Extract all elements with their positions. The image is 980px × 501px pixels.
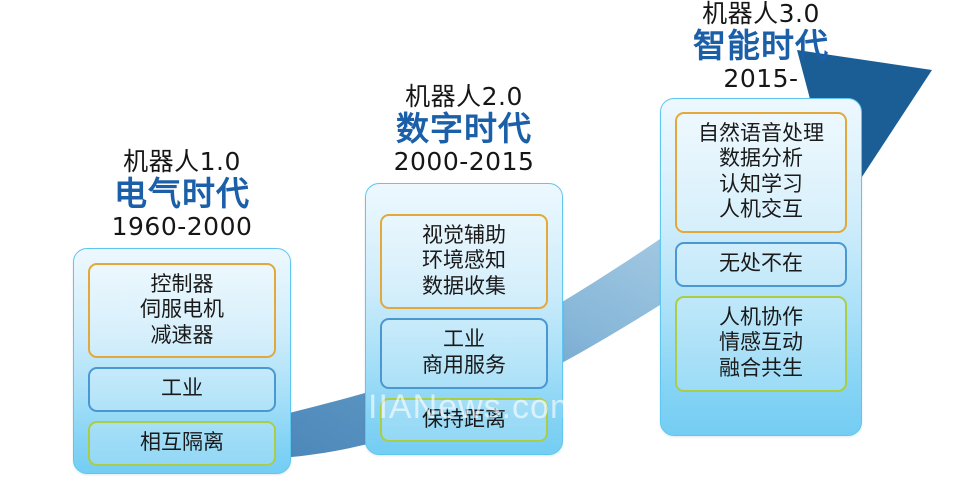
era-2-name: 机器人2.0 [365, 83, 563, 110]
era-3-panel: 自然语音处理 数据分析 认知学习 人机交互 无处不在 人机协作 情感互动 融合共… [660, 98, 862, 436]
era-2-title: 数字时代 [365, 111, 563, 147]
era-1-name: 机器人1.0 [73, 148, 291, 175]
era-3: 机器人3.0 智能时代 2015- 自然语音处理 数据分析 认知学习 人机交互 … [660, 0, 862, 436]
diagram-canvas: 机器人1.0 电气时代 1960-2000 控制器 伺服电机 减速器 工业 相互… [0, 0, 980, 501]
era-3-years: 2015- [660, 65, 862, 92]
era-3-item-1[interactable]: 自然语音处理 数据分析 认知学习 人机交互 [675, 112, 847, 233]
era-1: 机器人1.0 电气时代 1960-2000 控制器 伺服电机 减速器 工业 相互… [73, 148, 291, 474]
era-3-title: 智能时代 [660, 28, 862, 64]
era-2-panel: 视觉辅助 环境感知 数据收集 工业 商用服务 保持距离 [365, 183, 563, 455]
era-1-item-3[interactable]: 相互隔离 [88, 421, 276, 466]
era-3-name: 机器人3.0 [660, 0, 862, 27]
era-1-heading: 机器人1.0 电气时代 1960-2000 [73, 148, 291, 240]
era-2-heading: 机器人2.0 数字时代 2000-2015 [365, 83, 563, 175]
era-1-title: 电气时代 [73, 176, 291, 212]
era-3-item-3[interactable]: 人机协作 情感互动 融合共生 [675, 296, 847, 392]
era-3-heading: 机器人3.0 智能时代 2015- [660, 0, 862, 92]
era-1-item-2[interactable]: 工业 [88, 367, 276, 412]
era-2: 机器人2.0 数字时代 2000-2015 视觉辅助 环境感知 数据收集 工业 … [365, 83, 563, 455]
era-3-item-2[interactable]: 无处不在 [675, 242, 847, 287]
era-2-item-3[interactable]: 保持距离 [380, 398, 548, 443]
era-1-years: 1960-2000 [73, 213, 291, 240]
era-2-item-1[interactable]: 视觉辅助 环境感知 数据收集 [380, 214, 548, 310]
era-1-panel: 控制器 伺服电机 减速器 工业 相互隔离 [73, 248, 291, 474]
era-2-item-2[interactable]: 工业 商用服务 [380, 318, 548, 388]
era-2-years: 2000-2015 [365, 148, 563, 175]
era-1-item-1[interactable]: 控制器 伺服电机 减速器 [88, 263, 276, 359]
